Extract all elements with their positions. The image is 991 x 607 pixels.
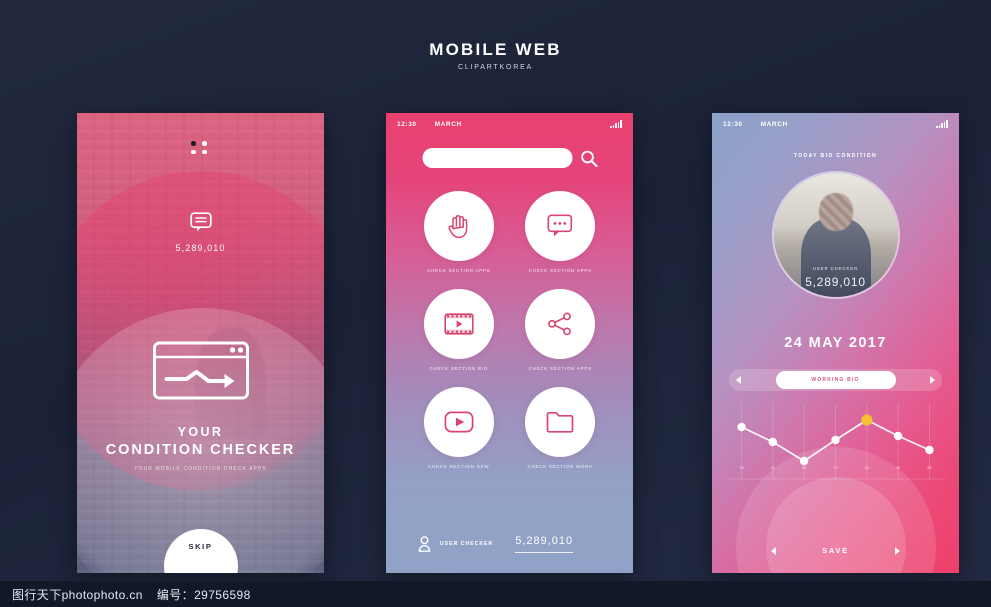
tile-caption: CHECK SECTION BIO bbox=[430, 366, 489, 371]
tile-caption: CHECK SECTION WORK bbox=[528, 464, 593, 469]
search-bar[interactable] bbox=[422, 148, 597, 168]
save-row: SAVE bbox=[712, 546, 959, 555]
dot-3[interactable] bbox=[191, 150, 196, 155]
page-indicator-dots[interactable] bbox=[191, 141, 209, 154]
tick-label: 20 bbox=[726, 465, 757, 470]
headline-subtitle: YOUR MOBILE CONDITION CHECK APPS bbox=[77, 466, 324, 472]
chevron-left-icon[interactable] bbox=[736, 376, 741, 384]
user-icon bbox=[418, 536, 431, 552]
page-subtitle: CLIPARTKOREA bbox=[0, 64, 991, 71]
watermark-site: 图行天下photophoto.cn bbox=[12, 586, 143, 603]
mode-pill-button[interactable]: WORKING BIO bbox=[776, 371, 896, 389]
mode-selector: WORKING BIO bbox=[729, 369, 942, 391]
menu-grid: CHECK SECTION APPS CHECK SECTION APPS bbox=[408, 191, 611, 469]
tile-circle[interactable] bbox=[525, 387, 595, 457]
tile-circle[interactable] bbox=[525, 289, 595, 359]
watermark-code: 编号：29756598 bbox=[157, 586, 251, 603]
film-strip-icon bbox=[444, 313, 474, 335]
avatar-count: 5,289,010 bbox=[774, 275, 898, 289]
mode-pill-label: WORKING BIO bbox=[811, 377, 859, 383]
save-button[interactable]: SAVE bbox=[822, 546, 849, 555]
menu-tile-play[interactable]: CHECK SECTION NEW bbox=[408, 387, 510, 469]
skip-button-label: SKIP bbox=[189, 542, 213, 551]
tile-caption: CHECK SECTION APPS bbox=[529, 366, 592, 371]
avatar[interactable]: USER CHECKER 5,289,010 bbox=[772, 171, 900, 299]
dot-2[interactable] bbox=[202, 141, 207, 146]
onboarding-headline: YOUR CONDITION CHECKER YOUR MOBILE CONDI… bbox=[77, 425, 324, 472]
status-bar: 12:30 MARCH bbox=[386, 113, 633, 135]
status-time: 12:30 bbox=[723, 121, 743, 128]
play-button-icon bbox=[444, 411, 474, 433]
browser-window-arrow-icon bbox=[152, 341, 249, 400]
page-title: MOBILE WEB bbox=[0, 40, 991, 60]
chart-x-axis-ticks: 20 21 22 23 24 25 26 bbox=[726, 465, 945, 470]
tick-label: 21 bbox=[757, 465, 788, 470]
chat-bubble-icon bbox=[190, 212, 212, 232]
status-time: 12:30 bbox=[397, 121, 417, 128]
headline-line-1: YOUR bbox=[77, 425, 324, 439]
menu-tile-chat[interactable]: CHECK SECTION APPS bbox=[510, 191, 612, 273]
tile-circle[interactable] bbox=[424, 191, 494, 261]
tile-circle[interactable] bbox=[525, 191, 595, 261]
folder-icon bbox=[546, 411, 574, 433]
menu-tile-share[interactable]: CHECK SECTION APPS bbox=[510, 289, 612, 371]
tile-circle[interactable] bbox=[424, 289, 494, 359]
screenshot-root: MOBILE WEB CLIPARTKOREA 5,289,010 bbox=[0, 0, 991, 607]
bottom-status-bar: USER CHECKER 5,289,010 bbox=[386, 515, 633, 573]
dot-1[interactable] bbox=[191, 141, 196, 146]
date-label: 24 MAY 2017 bbox=[712, 335, 959, 351]
tick-label: 26 bbox=[914, 465, 945, 470]
avatar-face-blurred bbox=[819, 193, 853, 231]
signal-bars-icon bbox=[936, 120, 948, 128]
tile-caption: CHECK SECTION NEW bbox=[428, 464, 489, 469]
status-month: MARCH bbox=[761, 121, 936, 128]
signal-bars-icon bbox=[610, 120, 622, 128]
section-title: TODAY BIO CONDITION bbox=[712, 153, 959, 159]
menu-tile-hand[interactable]: CHECK SECTION APPS bbox=[408, 191, 510, 273]
dot-4[interactable] bbox=[202, 150, 207, 155]
user-checker-label: USER CHECKER bbox=[440, 541, 493, 547]
share-nodes-icon bbox=[547, 312, 573, 336]
chevron-left-icon[interactable] bbox=[771, 547, 776, 555]
tick-label: 25 bbox=[882, 465, 913, 470]
chat-count-block: 5,289,010 bbox=[77, 212, 324, 253]
chart-point-highlight bbox=[861, 414, 872, 425]
phone-screen-onboarding: 5,289,010 YOUR CONDITION CHECKER YOUR MO… bbox=[77, 113, 324, 573]
phone-screen-bio: 12:30 MARCH TODAY BIO CONDITION USER CHE… bbox=[712, 113, 959, 573]
phone-screen-menu: 12:30 MARCH CHECK SECTION APPS bbox=[386, 113, 633, 573]
tick-label: 23 bbox=[820, 465, 851, 470]
user-checker-count: 5,289,010 bbox=[515, 535, 573, 553]
hand-icon bbox=[447, 213, 471, 239]
tile-circle[interactable] bbox=[424, 387, 494, 457]
tick-label: 22 bbox=[789, 465, 820, 470]
status-month: MARCH bbox=[435, 121, 610, 128]
menu-tile-film[interactable]: CHECK SECTION BIO bbox=[408, 289, 510, 371]
chat-count-value: 5,289,010 bbox=[77, 243, 324, 253]
avatar-caption: USER CHECKER bbox=[774, 266, 898, 271]
watermark-bar: 图行天下photophoto.cn 编号：29756598 bbox=[0, 581, 991, 607]
chat-bubble-icon bbox=[547, 214, 573, 238]
decorative-ring-inner bbox=[766, 477, 906, 573]
menu-tile-folder[interactable]: CHECK SECTION WORK bbox=[510, 387, 612, 469]
bio-line-chart[interactable] bbox=[726, 403, 945, 491]
tick-label: 24 bbox=[851, 465, 882, 470]
user-checker-group[interactable]: USER CHECKER bbox=[418, 536, 493, 552]
chevron-right-icon[interactable] bbox=[930, 376, 935, 384]
tile-caption: CHECK SECTION APPS bbox=[529, 268, 592, 273]
status-bar: 12:30 MARCH bbox=[712, 113, 959, 135]
chevron-right-icon[interactable] bbox=[895, 547, 900, 555]
tile-caption: CHECK SECTION APPS bbox=[427, 268, 490, 273]
page-title-block: MOBILE WEB CLIPARTKOREA bbox=[0, 40, 991, 71]
search-input[interactable] bbox=[422, 148, 572, 168]
headline-line-2: CONDITION CHECKER bbox=[77, 442, 324, 458]
search-icon[interactable] bbox=[580, 150, 597, 167]
